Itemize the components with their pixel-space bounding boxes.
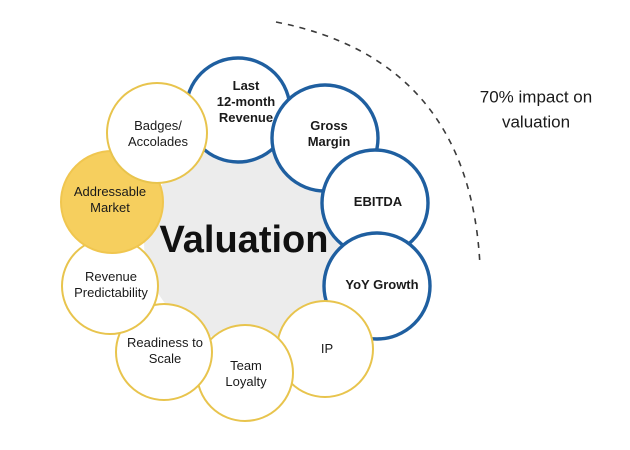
callout-label: 70% impact onvaluation <box>480 88 592 132</box>
valuation-wheel-diagram: Last12-monthRevenueGrossMarginEBITDAYoY … <box>0 0 630 450</box>
node-label-gross-margin: GrossMargin <box>308 118 351 149</box>
node-label-team-loyalty: TeamLoyalty <box>225 358 267 389</box>
node-label-ip: IP <box>321 341 333 356</box>
diagram-canvas: Last12-monthRevenueGrossMarginEBITDAYoY … <box>0 0 630 450</box>
node-label-badges-accolades: Badges/Accolades <box>128 118 188 149</box>
hub-label: Valuation <box>160 219 329 261</box>
node-badges-accolades[interactable]: Badges/Accolades <box>107 83 207 183</box>
callout-text: 70% impact onvaluation <box>480 88 592 132</box>
node-team-loyalty[interactable]: TeamLoyalty <box>197 325 293 421</box>
node-label-ebitda: EBITDA <box>354 194 403 209</box>
node-label-yoy-growth: YoY Growth <box>345 277 418 292</box>
